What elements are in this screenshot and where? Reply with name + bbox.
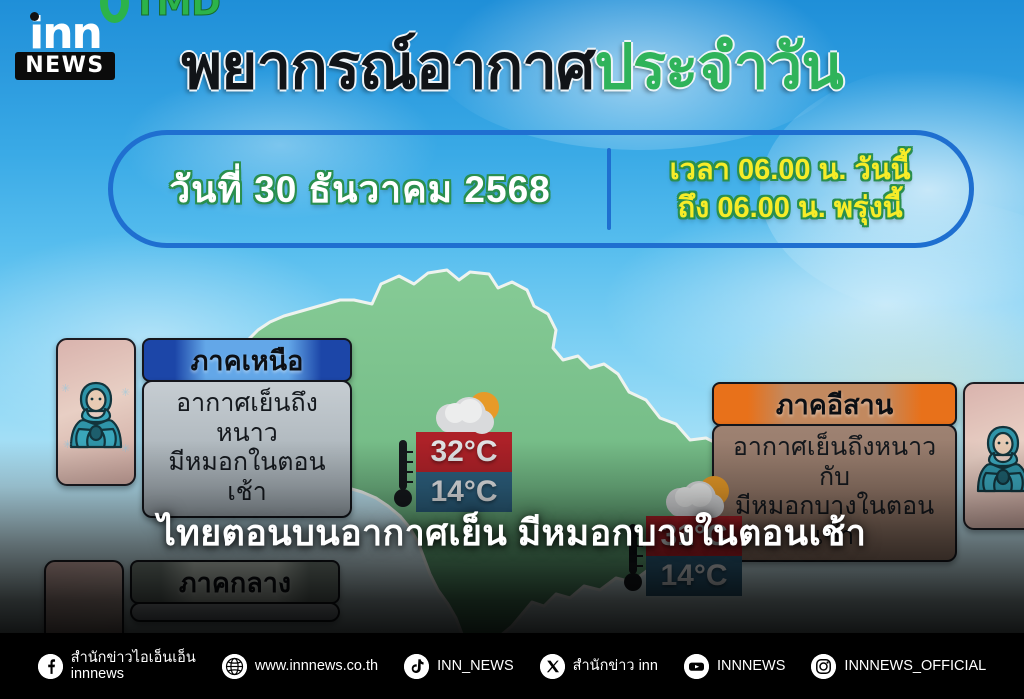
region-north-title: ภาคเหนือ (142, 338, 352, 382)
social-link-website[interactable]: www.innnews.co.th (209, 654, 391, 679)
social-label-facebook: สำนักข่าวไอเอ็นเอ็น innnews (71, 650, 196, 682)
svg-text:✳: ✳ (121, 387, 130, 399)
page-title-dark-part: พยากรณ์อากาศ (181, 33, 594, 102)
summary-caption: ไทยตอนบนอากาศเย็น มีหมอกบางในตอนเช้า (0, 504, 1024, 561)
instagram-icon (811, 654, 836, 679)
svg-text:✳: ✳ (61, 383, 70, 395)
region-central-body: ภาคกลาง (130, 560, 340, 622)
globe-icon (222, 654, 247, 679)
date-time-bar: วันที่ 30 ธันวาคม 2568 เวลา 06.00 น. วัน… (108, 130, 974, 248)
x-twitter-icon (540, 654, 565, 679)
social-label-website: www.innnews.co.th (255, 658, 378, 674)
social-label-tiktok: INN_NEWS (437, 658, 514, 674)
social-label-facebook-line1: สำนักข่าวไอเอ็นเอ็น (71, 650, 196, 666)
region-central-description (130, 602, 340, 622)
social-link-facebook[interactable]: สำนักข่าวไอเอ็นเอ็น innnews (25, 650, 209, 682)
social-label-x-twitter: สำนักข่าว inn (573, 658, 658, 674)
page-title-green-part: ประจำวัน (594, 33, 842, 102)
region-north-description: อากาศเย็นถึงหนาว มีหมอกในตอนเช้า (142, 380, 352, 518)
temperature-badge-north: 32°C 14°C (392, 432, 512, 512)
temperature-stack-north: 32°C 14°C (416, 432, 512, 512)
forecast-time-line-2: ถึง 06.00 น. พรุ่งนี้ (611, 189, 969, 227)
page-title: พยากรณ์อากาศประจำวัน (0, 18, 1024, 116)
region-card-north[interactable]: ✳ ✳ ✳ ✳ ภาคเหนือ อากาศเย็นถึงหนาว มีหมอก… (56, 338, 352, 518)
partly-cloudy-icon (424, 388, 510, 440)
social-link-instagram[interactable]: INNNEWS_OFFICIAL (798, 654, 999, 679)
facebook-icon (38, 654, 63, 679)
social-link-tiktok[interactable]: INN_NEWS (391, 654, 527, 679)
forecast-date: วันที่ 30 ธันวาคม 2568 (113, 160, 607, 219)
social-footer-bar: สำนักข่าวไอเอ็นเอ็น innnews www.innnew (0, 633, 1024, 699)
svg-text:✳: ✳ (121, 443, 130, 455)
weather-forecast-infographic: TMD inn NEWS พยากรณ์อากาศประจำวัน วันที่… (0, 0, 1024, 699)
thermometer-icon (392, 436, 414, 510)
temperature-low-northeast: 14°C (646, 556, 742, 596)
social-link-x-twitter[interactable]: สำนักข่าว inn (527, 654, 671, 679)
svg-text:✳: ✳ (63, 439, 72, 451)
social-label-instagram: INNNEWS_OFFICIAL (844, 658, 986, 674)
youtube-icon (684, 654, 709, 679)
social-label-facebook-line2: innnews (71, 666, 196, 682)
social-link-youtube[interactable]: INNNEWS (671, 654, 798, 679)
region-north-body: ภาคเหนือ อากาศเย็นถึงหนาว มีหมอกในตอนเช้… (142, 338, 352, 518)
forecast-time-line-1: เวลา 06.00 น. วันนี้ (611, 151, 969, 189)
social-label-youtube: INNNEWS (717, 658, 785, 674)
region-northeast-title: ภาคอีสาน (712, 382, 957, 426)
forecast-time-range: เวลา 06.00 น. วันนี้ ถึง 06.00 น. พรุ่งน… (611, 151, 969, 228)
tiktok-icon (404, 654, 429, 679)
region-central-title: ภาคกลาง (130, 560, 340, 604)
cold-person-icon: ✳ ✳ ✳ ✳ (56, 338, 136, 486)
